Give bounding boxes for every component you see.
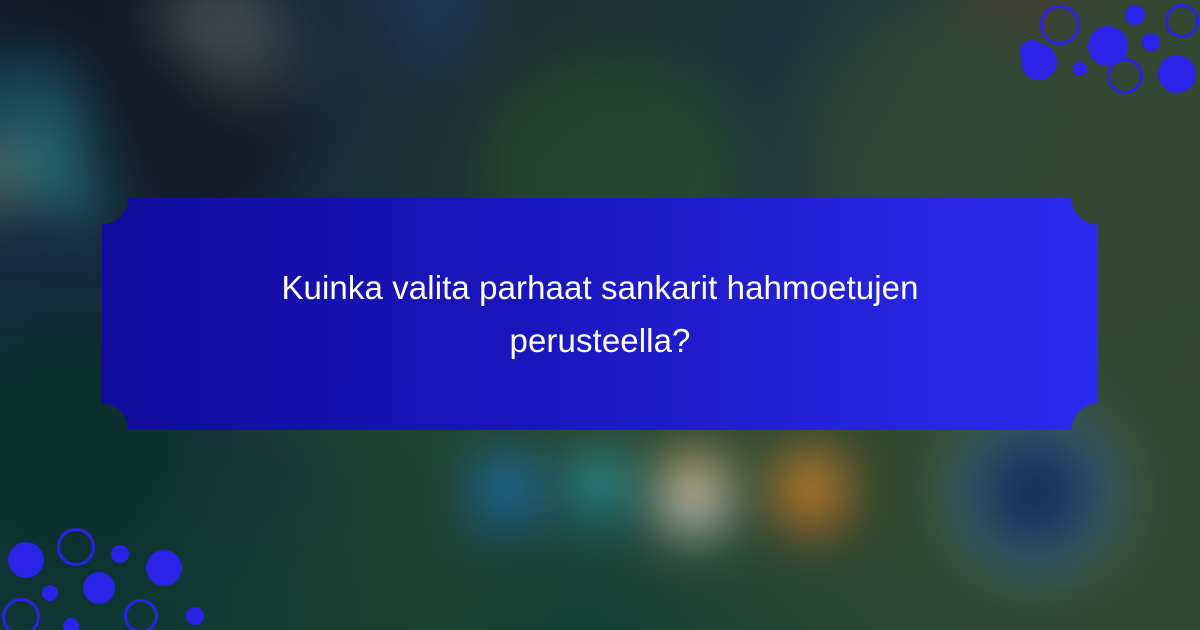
headline-card: Kuinka valita parhaat sankarit hahmoetuj… [102, 198, 1098, 430]
social-card-canvas: Kuinka valita parhaat sankarit hahmoetuj… [0, 0, 1200, 630]
card-title: Kuinka valita parhaat sankarit hahmoetuj… [200, 261, 1000, 368]
